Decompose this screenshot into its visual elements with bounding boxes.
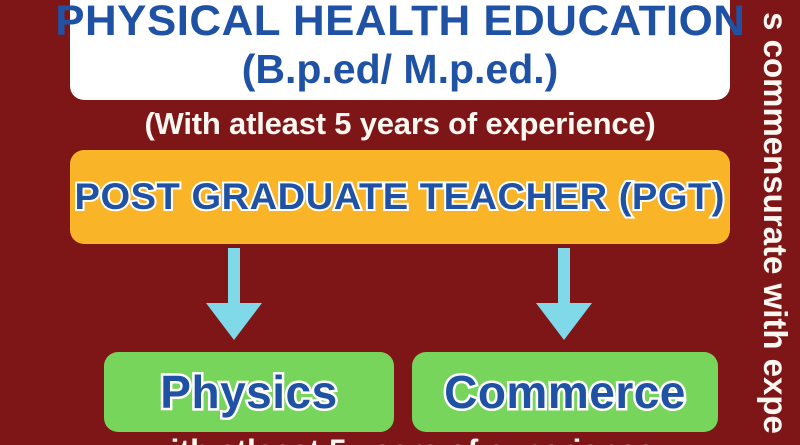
arrow-down-icon xyxy=(536,248,592,340)
subject-label: Physics xyxy=(160,367,337,417)
side-salary-strip: s commensurate with expe xyxy=(747,0,800,445)
arrow-shaft xyxy=(558,248,570,306)
qualification-title: PHYSICAL HEALTH EDUCATION xyxy=(55,0,745,44)
experience-note: (With atleast 5 years of experience) xyxy=(0,104,800,144)
bottom-clipped-text: with atleast 5 years of experience xyxy=(0,432,800,445)
qualification-card: PHYSICAL HEALTH EDUCATION (B.p.ed/ M.p.e… xyxy=(70,0,730,100)
subject-card-physics: Physics xyxy=(104,352,394,432)
qualification-degrees: (B.p.ed/ M.p.ed.) xyxy=(242,44,559,94)
side-salary-text: s commensurate with expe xyxy=(755,12,795,434)
arrow-down-icon xyxy=(206,248,262,340)
post-graduate-teacher-band: POST GRADUATE TEACHER (PGT) xyxy=(70,150,730,244)
recruitment-poster: PHYSICAL HEALTH EDUCATION (B.p.ed/ M.p.e… xyxy=(0,0,800,445)
arrow-head xyxy=(536,303,592,340)
post-graduate-teacher-label: POST GRADUATE TEACHER (PGT) xyxy=(75,177,725,217)
arrow-shaft xyxy=(228,248,240,306)
arrow-head xyxy=(206,303,262,340)
subject-label: Commerce xyxy=(444,367,686,417)
subject-card-commerce: Commerce xyxy=(412,352,718,432)
